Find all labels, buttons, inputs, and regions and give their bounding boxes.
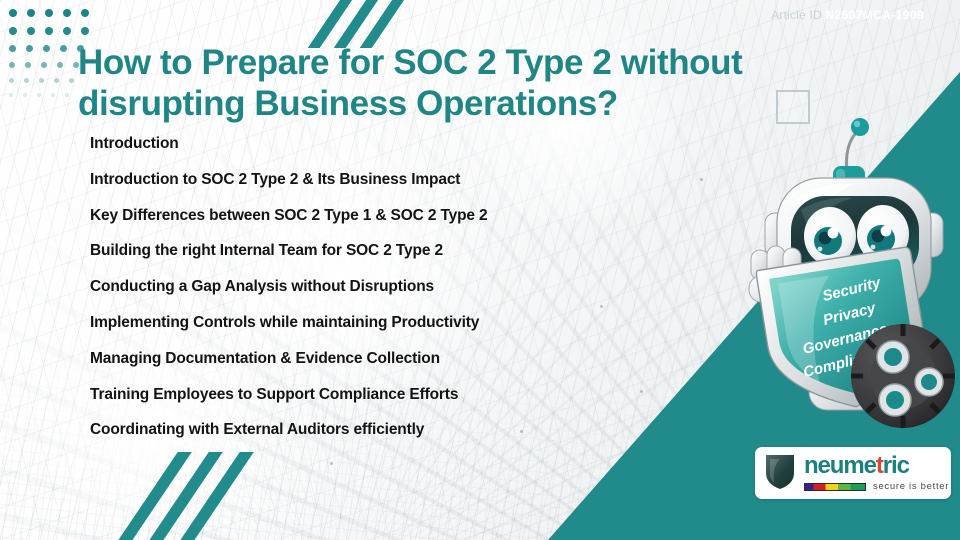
- robot-mascot: Security Privacy Governance Compliance: [735, 108, 960, 448]
- page-title-line-1: How to Prepare for SOC 2 Type 2 without: [78, 42, 808, 83]
- logo-text-block: neumetric secure is better: [804, 454, 949, 492]
- list-item: Coordinating with External Auditors effi…: [90, 422, 650, 438]
- logo-word-accent: t: [876, 452, 883, 479]
- page-title-line-2: disrupting Business Operations?: [78, 83, 808, 124]
- article-id-value: N2507MCA-1909: [825, 8, 924, 22]
- list-item: Managing Documentation & Evidence Collec…: [90, 351, 650, 367]
- page-title: How to Prepare for SOC 2 Type 2 without …: [78, 42, 808, 125]
- article-id: Article ID N2507MCA-1909: [771, 8, 924, 22]
- neumetric-logo: neumetric secure is better: [755, 447, 951, 499]
- list-item: Introduction to SOC 2 Type 2 & Its Busin…: [90, 172, 650, 188]
- list-item: Conducting a Gap Analysis without Disrup…: [90, 279, 650, 295]
- list-item: Key Differences between SOC 2 Type 1 & S…: [90, 208, 650, 224]
- logo-tagline: secure is better: [873, 481, 949, 492]
- article-id-label: Article ID: [771, 8, 822, 22]
- antenna-ball: [851, 118, 869, 136]
- topic-list: Introduction Introduction to SOC 2 Type …: [90, 136, 650, 458]
- shield-icon: [763, 451, 797, 496]
- list-item: Implementing Controls while maintaining …: [90, 315, 650, 331]
- background-dot: [330, 462, 333, 465]
- list-item: Training Employees to Support Compliance…: [90, 387, 650, 403]
- list-item: Introduction: [90, 136, 650, 152]
- slide-canvas: Article ID N2507MCA-1909 How to Prepare …: [0, 0, 960, 540]
- background-dot: [700, 178, 703, 181]
- logo-word-part-1: neume: [804, 452, 876, 479]
- robot-wheel: [851, 324, 955, 428]
- logo-subline: secure is better: [804, 481, 949, 492]
- list-item: Building the right Internal Team for SOC…: [90, 243, 650, 259]
- logo-wordmark: neumetric: [804, 454, 949, 478]
- logo-word-part-2: ric: [883, 452, 909, 479]
- rainbow-bar-icon: [804, 483, 866, 491]
